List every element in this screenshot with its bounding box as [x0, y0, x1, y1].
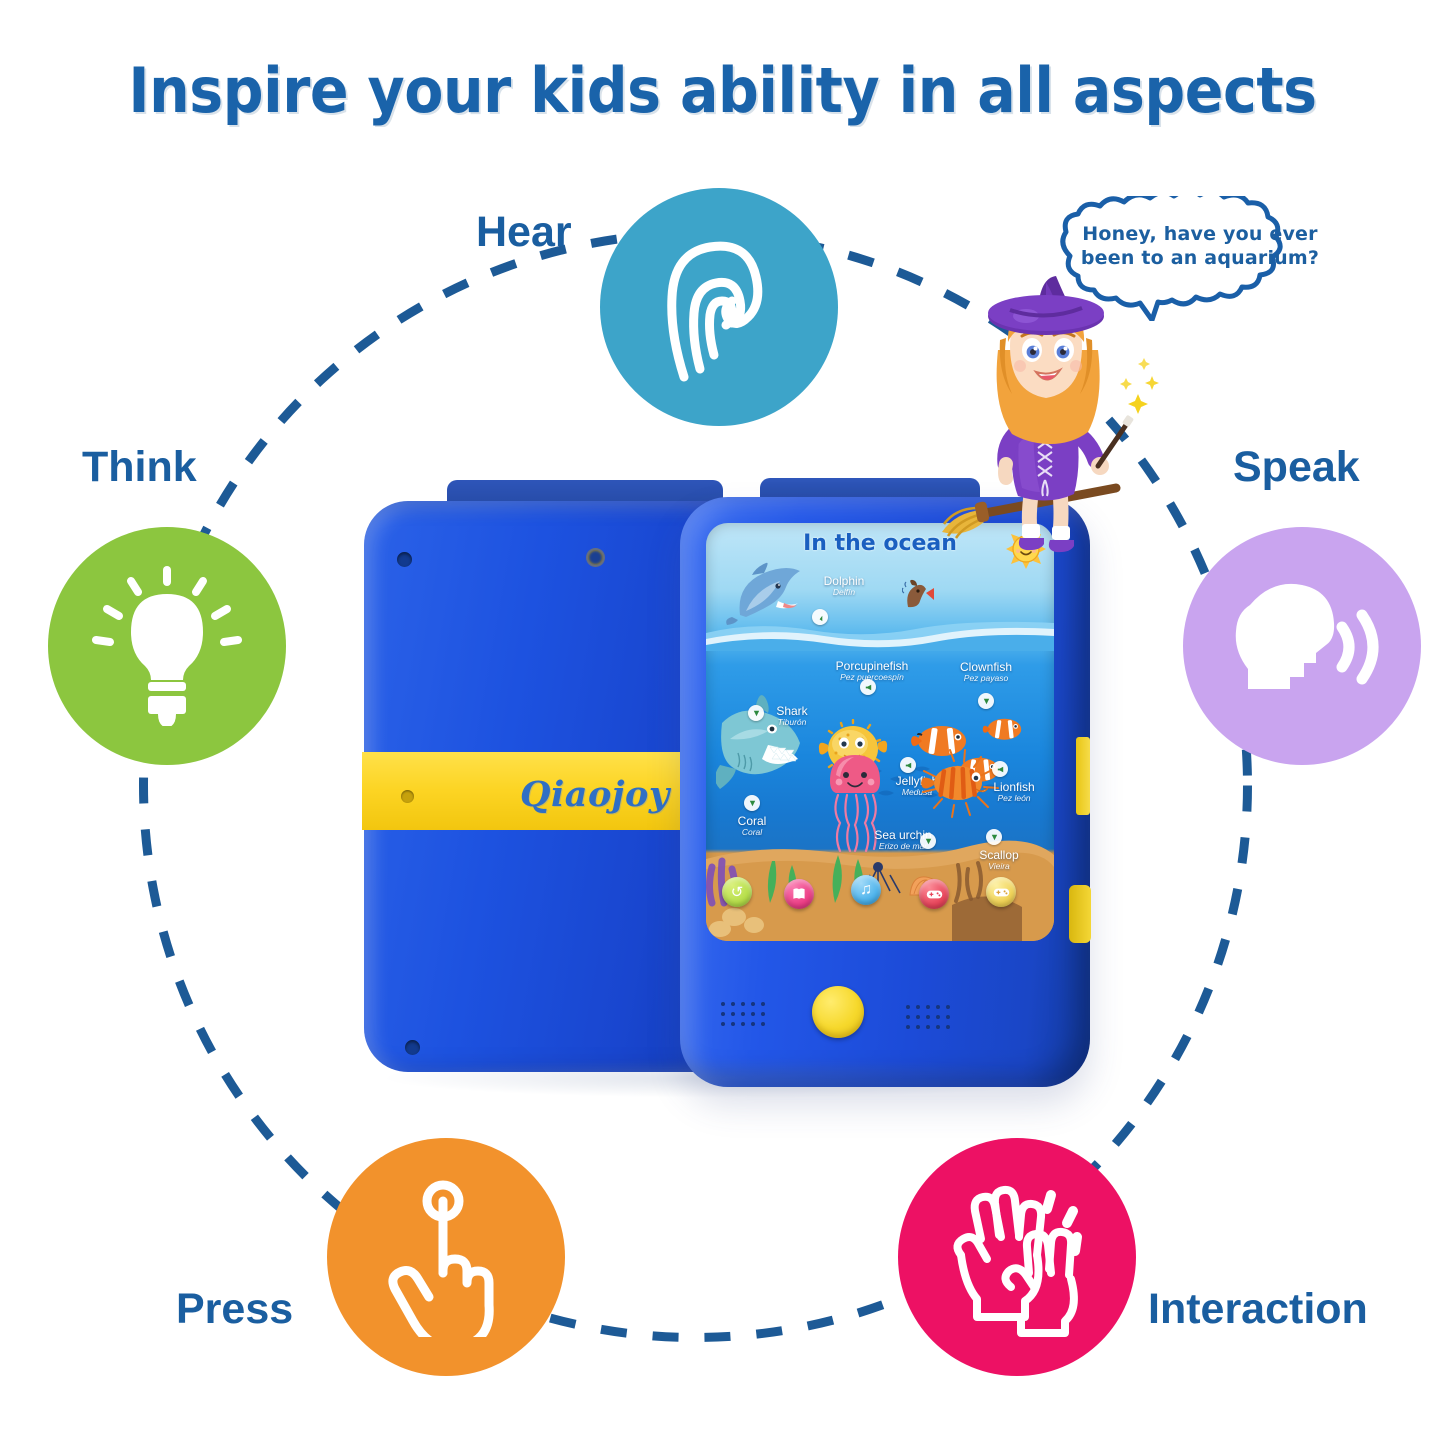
- jellyfish-illustration: [824, 749, 886, 859]
- lionfish-illustration: [914, 749, 1002, 823]
- speaker-icon-porcupinefish[interactable]: [860, 679, 876, 695]
- speaker-icon-lionfish[interactable]: [992, 761, 1008, 777]
- app-icon-gamepad-red[interactable]: [919, 879, 949, 909]
- label-clownfish: Clownfish Pez payaso: [946, 661, 1026, 683]
- home-button[interactable]: [812, 986, 864, 1038]
- infographic-canvas: Inspire your kids ability in all aspects…: [0, 0, 1445, 1445]
- ear-icon: [644, 227, 794, 387]
- lightbulb-icon: [92, 566, 242, 726]
- app-icon-music[interactable]: ♫: [851, 875, 881, 905]
- label-porcupinefish: Porcupinefish Pez puercoespín: [824, 660, 920, 682]
- feature-label-interaction: Interaction: [1148, 1285, 1368, 1334]
- speech-line-1: Honey, have you ever: [1065, 222, 1335, 246]
- side-button-upper[interactable]: [1076, 737, 1090, 815]
- app-icon-book[interactable]: [784, 879, 814, 909]
- clapping-hands-icon: [937, 1177, 1097, 1337]
- dolphin-illustration: [726, 561, 806, 629]
- speaker-icon-shark[interactable]: [748, 705, 764, 721]
- animal-with-horn-icon: [902, 579, 938, 613]
- band-screw-hole: [401, 790, 414, 803]
- witch-girl-character: [928, 276, 1168, 556]
- gamepad-icon: [926, 889, 943, 900]
- device-shadow: [380, 1058, 1080, 1098]
- feature-label-think: Think: [82, 443, 197, 492]
- sparkles: [1120, 358, 1159, 414]
- feature-label-hear: Hear: [476, 208, 572, 257]
- device-back-port-left: [397, 552, 412, 567]
- tablet-screen[interactable]: In the ocean Dolphin Delfín: [706, 523, 1054, 941]
- speech-bubble-text: Honey, have you ever been to an aquarium…: [1065, 222, 1335, 271]
- speaker-icon-dolphin[interactable]: [812, 609, 828, 625]
- app-icon-gamepad-yellow[interactable]: [986, 877, 1016, 907]
- device-back-port-bottom: [405, 1040, 420, 1055]
- shark-illustration: [716, 695, 816, 807]
- feature-circle-hear[interactable]: [600, 188, 838, 426]
- speaker-icon-sea-urchin[interactable]: [920, 833, 936, 849]
- feature-circle-think[interactable]: [48, 527, 286, 765]
- app-icon-refresh[interactable]: ↺: [722, 877, 752, 907]
- speaker-grille-right: [904, 1003, 958, 1037]
- speaker-icon-coral[interactable]: [744, 795, 760, 811]
- feature-circle-speak[interactable]: [1183, 527, 1421, 765]
- page-title: Inspire your kids ability in all aspects: [58, 54, 1387, 127]
- speaker-icon-scallop[interactable]: [986, 829, 1002, 845]
- speaker-icon-clownfish[interactable]: [978, 693, 994, 709]
- book-icon: [791, 886, 807, 902]
- pointing-hand-icon: [371, 1177, 521, 1337]
- speech-line-2: been to an aquarium?: [1065, 246, 1335, 270]
- device-back-screw-center: [588, 550, 603, 565]
- side-button-lower[interactable]: [1069, 885, 1091, 943]
- feature-label-speak: Speak: [1233, 443, 1360, 492]
- brand-logo: Qiaojoy: [520, 774, 670, 815]
- gamepad-icon: [993, 887, 1010, 898]
- feature-circle-press[interactable]: [327, 1138, 565, 1376]
- speaking-head-icon: [1216, 571, 1388, 721]
- speaker-grille-left: [719, 1000, 773, 1034]
- feature-circle-interaction[interactable]: [898, 1138, 1136, 1376]
- feature-label-press: Press: [176, 1285, 293, 1334]
- label-dolphin: Dolphin Delfín: [812, 575, 876, 597]
